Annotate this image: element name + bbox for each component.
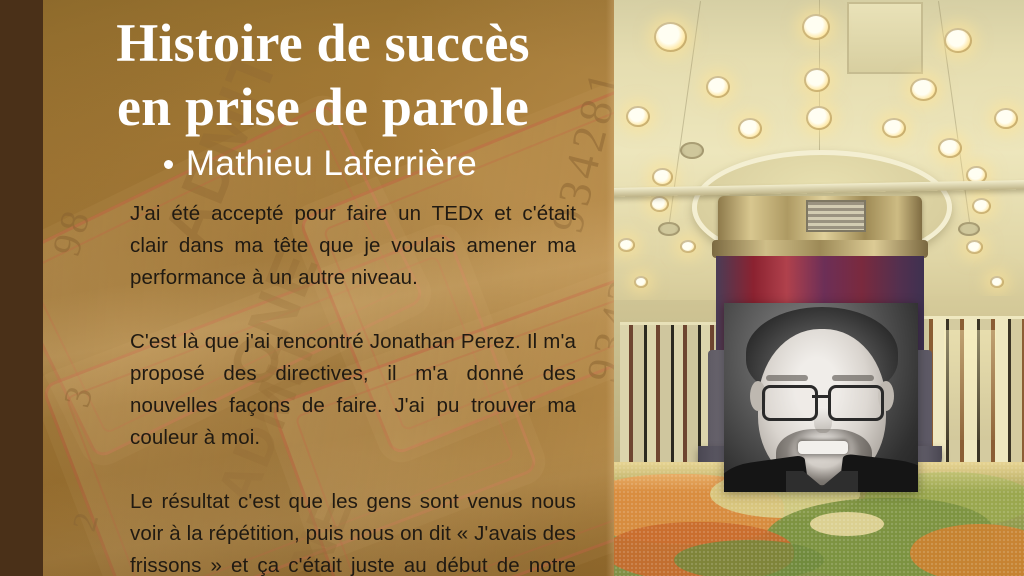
ceiling-downlight-icon [652,168,673,186]
ceiling-downlight-icon [938,138,962,158]
ceiling-downlight-icon [618,238,635,252]
testimonial-paragraph: Le résultat c'est que les gens sont venu… [130,486,576,576]
ceiling-downlight-icon [738,118,762,139]
ceiling-downlight-icon [910,78,937,101]
speaker-name: Mathieu Laferrière [186,143,477,185]
headshot-eyeglass-bridge [812,395,828,398]
ceiling-downlight-icon [658,222,680,236]
testimonial-body: J'ai été accepté pour faire un TEDx et c… [130,198,576,576]
ceiling-downlight-icon [626,106,650,127]
headshot-eyebrow-left [766,375,808,381]
ceiling-downlight-icon [802,14,830,40]
ceiling-downlight-icon [806,106,832,130]
speaker-name-row: Mathieu Laferrière [43,143,598,185]
ceiling-downlight-icon [958,222,980,236]
ceiling-downlight-icon [990,276,1004,288]
left-accent-band [0,0,43,576]
headshot-eyeglass-left [762,385,818,421]
text-column: Histoire de succès en prise de parole Ma… [43,0,614,576]
ceiling-downlight-icon [654,22,687,52]
right-mirror-glow [944,330,996,440]
headshot-eyeglass-right [828,385,884,421]
ceiling-downlight-icon [972,198,991,214]
title-line-1: Histoire de succès [43,11,603,75]
bullet-icon [164,160,173,169]
ceiling-downlight-icon [944,28,972,53]
ceiling-downlight-icon [966,240,983,254]
slide-title: Histoire de succès en prise de parole [43,11,603,139]
ceiling-downlight-icon [680,240,696,253]
title-line-2: en prise de parole [43,75,603,139]
ceiling-downlight-icon [994,108,1018,129]
ceiling-downlight-icon [680,142,704,159]
speaker-headshot [724,303,918,492]
headshot-eyebrow-right [832,375,874,381]
testimonial-paragraph: C'est là que j'ai rencontré Jonathan Per… [130,326,576,454]
ceiling-downlight-icon [804,68,830,92]
ceiling-downlight-icon [650,196,669,212]
ceiling-downlight-icon [706,76,730,98]
kiosk-vent-grill [806,200,866,232]
headshot-smile [798,441,848,454]
presentation-slide: ADMIT ONE ADMIT ONE 934281 934281 98 3 2… [0,0,1024,576]
ceiling-downlight-icon [634,276,648,288]
testimonial-paragraph: J'ai été accepté pour faire un TEDx et c… [130,198,576,294]
ceiling-downlight-icon [882,118,906,138]
ceiling-vent-panel [847,2,923,74]
